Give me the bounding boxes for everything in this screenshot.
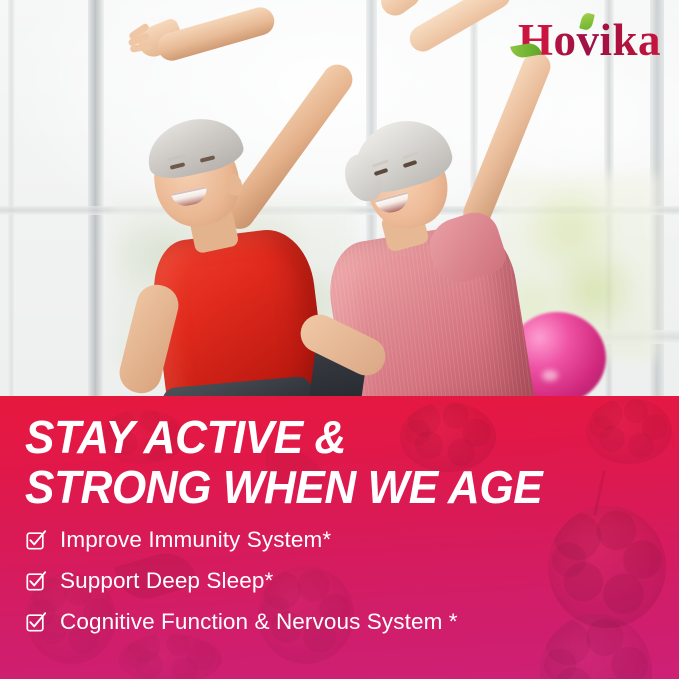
hero-photo: H ovika (0, 0, 679, 396)
list-item: Cognitive Function & Nervous System * (26, 610, 458, 634)
checkbox-checked-icon (26, 530, 46, 550)
berry-watermark (548, 506, 666, 628)
brand-logo-text: ovika (553, 18, 661, 63)
list-item: Improve Immunity System* (26, 528, 458, 552)
list-item-label: Cognitive Function & Nervous System * (60, 610, 458, 634)
page-title: STAY ACTIVE & STRONG WHEN WE AGE (25, 412, 542, 512)
berry-watermark (586, 398, 672, 464)
window-frame-bar (8, 0, 15, 396)
benefits-list: Improve Immunity System* Support Deep Sl… (26, 528, 458, 651)
checkbox-checked-icon (26, 571, 46, 591)
berry-watermark (540, 614, 652, 679)
list-item-label: Support Deep Sleep* (60, 569, 273, 593)
checkbox-checked-icon (26, 612, 46, 632)
list-item-label: Improve Immunity System* (60, 528, 331, 552)
list-item: Support Deep Sleep* (26, 569, 458, 593)
product-ad-banner: H ovika STAY ACTIVE & STRONG WHEN WE AGE (0, 0, 679, 679)
elderly-woman-figure (318, 100, 598, 396)
window-frame-bar (88, 0, 104, 396)
brand-logo[interactable]: H ovika (518, 18, 661, 63)
